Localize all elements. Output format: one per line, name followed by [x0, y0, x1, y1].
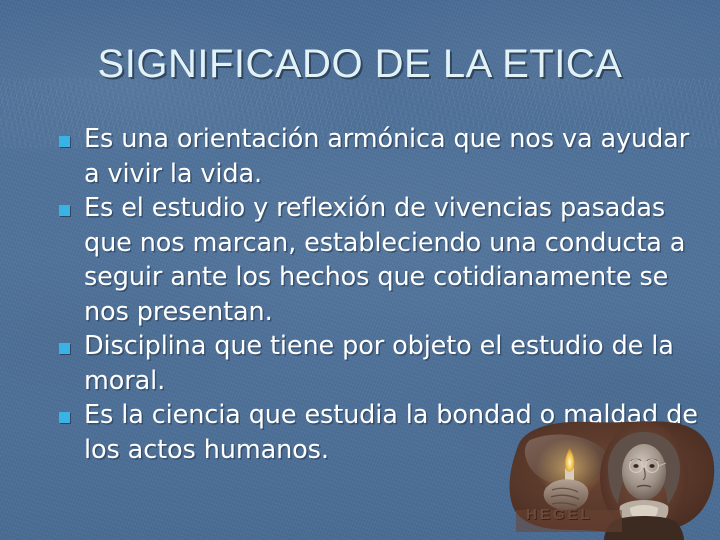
- list-item: Es una orientación armónica que nos va a…: [56, 122, 704, 191]
- list-item-text: Disciplina que tiene por objeto el estud…: [84, 331, 674, 396]
- bullet-list: Es una orientación armónica que nos va a…: [56, 122, 704, 467]
- square-bullet-icon: [59, 343, 70, 354]
- list-item: Disciplina que tiene por objeto el estud…: [56, 329, 704, 398]
- list-item-text: Es una orientación armónica que nos va a…: [84, 124, 689, 189]
- square-bullet-icon: [59, 412, 70, 423]
- square-bullet-icon: [59, 205, 70, 216]
- list-item: Es el estudio y reflexión de vivencias p…: [56, 191, 704, 329]
- slide-title: SIGNIFICADO DE LA ETICA: [0, 40, 720, 88]
- image-caption: HEGEL: [526, 506, 593, 523]
- eye-left: [633, 464, 638, 468]
- hegel-portrait-image: HEGEL: [508, 418, 720, 540]
- face: [622, 444, 666, 500]
- presentation-slide: SIGNIFICADO DE LA ETICA Es una orientaci…: [0, 0, 720, 540]
- list-item-text: Es el estudio y reflexión de vivencias p…: [84, 193, 685, 327]
- square-bullet-icon: [59, 136, 70, 147]
- eye-right: [649, 464, 654, 468]
